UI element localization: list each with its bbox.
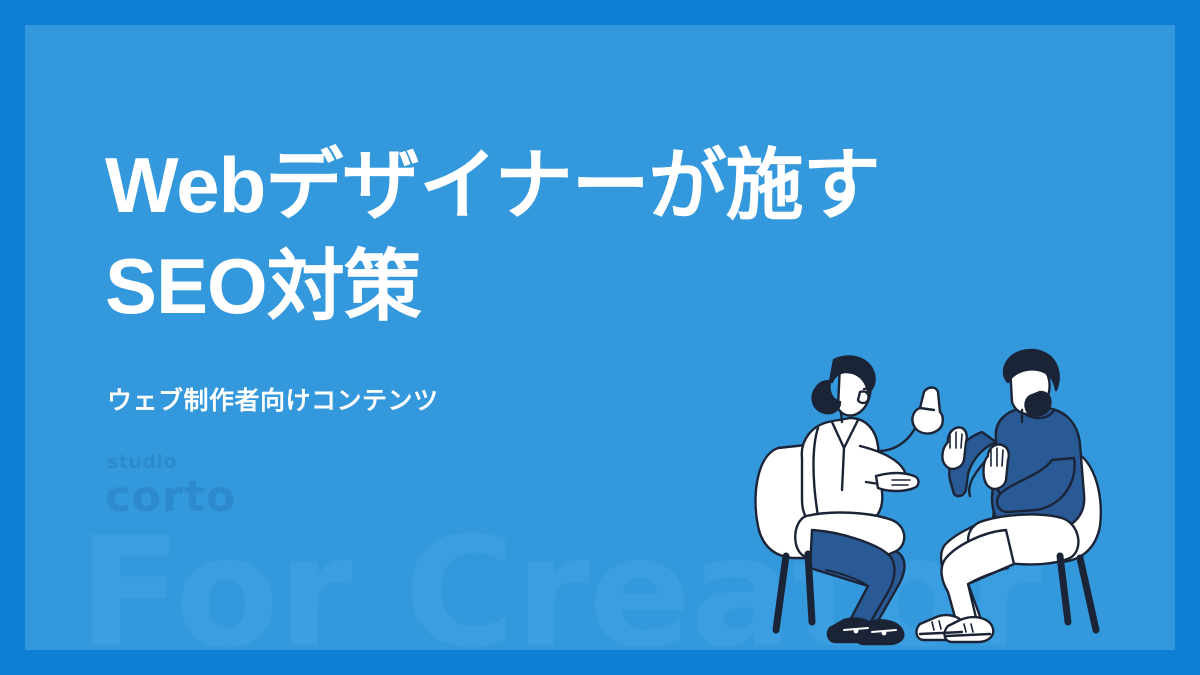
brand-logo-corto-text: corto bbox=[105, 475, 236, 520]
slide-inner-panel: For Creator Webデザイナーが施す SEO対策 ウェブ制作者向けコン… bbox=[25, 25, 1175, 650]
presentation-slide: For Creator Webデザイナーが施す SEO対策 ウェブ制作者向けコン… bbox=[0, 0, 1200, 675]
illustration-svg bbox=[748, 330, 1175, 650]
page-title: Webデザイナーが施す SEO対策 bbox=[105, 135, 880, 338]
figure-man bbox=[917, 350, 1101, 642]
subtitle: ウェブ制作者向けコンテンツ bbox=[107, 385, 439, 418]
brand-logo-studio-text: studio bbox=[107, 453, 236, 472]
two-people-conversation-illustration bbox=[748, 330, 1175, 650]
figure-woman bbox=[755, 356, 942, 644]
brand-logo: studio corto bbox=[105, 453, 236, 520]
